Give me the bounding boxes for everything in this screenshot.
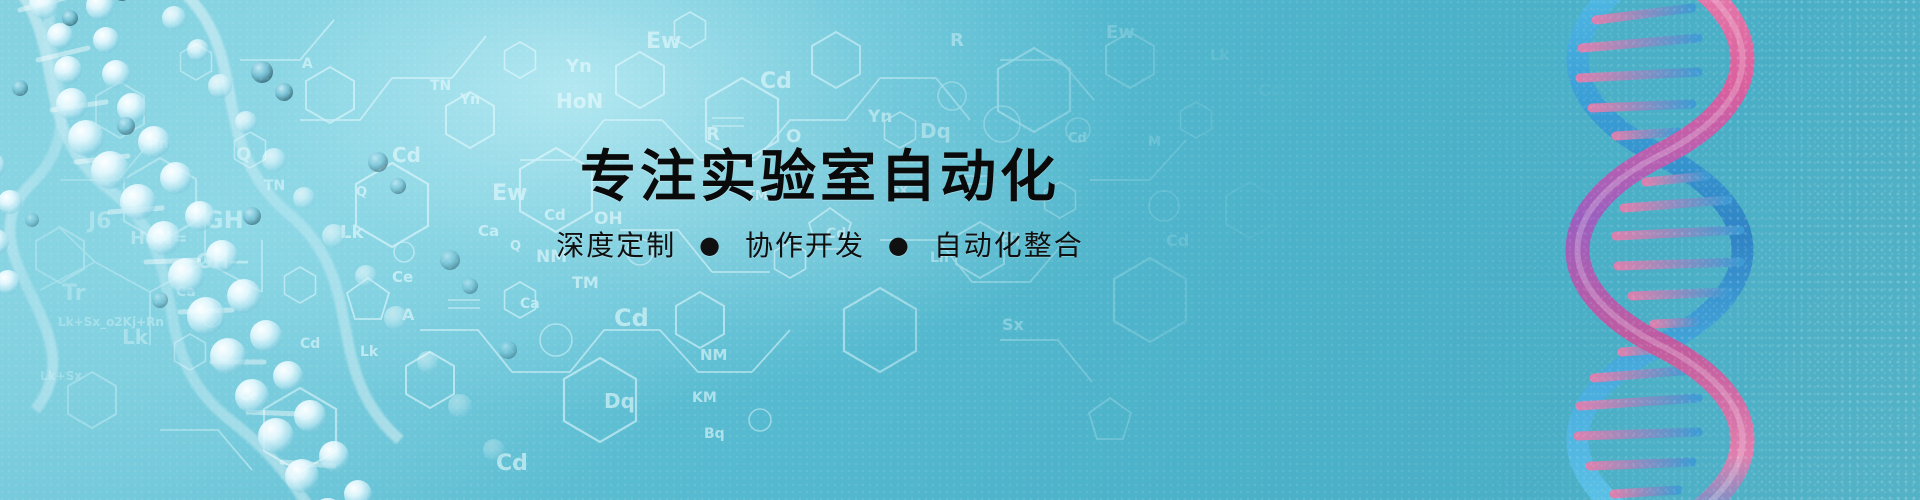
- svg-text:Dq: Dq: [920, 119, 951, 143]
- svg-text:Bq: Bq: [704, 426, 725, 442]
- svg-text:Ew: Ew: [1106, 22, 1135, 43]
- svg-text:Lk+Sx_o2Kj+Rn: Lk+Sx_o2Kj+Rn: [58, 315, 164, 330]
- svg-text:Lk: Lk: [1210, 46, 1231, 64]
- svg-text:R: R: [706, 124, 720, 145]
- banner-subtitle: 深度定制 ● 协作开发 ● 自动化整合: [0, 232, 1640, 260]
- svg-text:Lk+Sx: Lk+Sx: [40, 369, 82, 383]
- bullet-separator-icon-2: ●: [888, 233, 911, 257]
- banner-copy: 专注实验室自动化 深度定制 ● 协作开发 ● 自动化整合: [0, 150, 1640, 260]
- subtitle-item-1: 深度定制: [556, 229, 676, 262]
- svg-text:M: M: [1148, 135, 1161, 150]
- svg-text:Ce: Ce: [240, 389, 259, 404]
- svg-text:TM: TM: [572, 273, 599, 292]
- svg-text:Cd: Cd: [614, 304, 649, 332]
- svg-text:Cd: Cd: [760, 69, 792, 94]
- svg-text:Lk: Lk: [122, 325, 149, 349]
- svg-text:A: A: [302, 56, 313, 72]
- svg-text:R: R: [950, 30, 964, 51]
- svg-text:Ca: Ca: [520, 296, 540, 312]
- svg-text:Dq: Dq: [604, 389, 635, 413]
- svg-text:Cd: Cd: [496, 451, 528, 476]
- svg-text:Cd: Cd: [1068, 131, 1087, 146]
- svg-text:O: O: [786, 126, 801, 147]
- svg-text:Yn: Yn: [867, 107, 892, 127]
- svg-text:Cd: Cd: [1258, 81, 1283, 101]
- svg-text:Yn: Yn: [459, 92, 480, 108]
- svg-text:Sx: Sx: [1002, 315, 1025, 334]
- svg-text:Cd: Cd: [300, 336, 320, 352]
- svg-text:Tr: Tr: [62, 281, 86, 306]
- svg-text:Yn: Yn: [565, 56, 592, 77]
- svg-text:Ca: Ca: [176, 284, 196, 300]
- banner-headline: 专注实验室自动化: [0, 150, 1640, 206]
- svg-text:TN: TN: [430, 78, 451, 94]
- svg-text:NM: NM: [700, 346, 727, 364]
- subtitle-item-3: 自动化整合: [934, 229, 1084, 262]
- svg-text:A: A: [402, 305, 415, 324]
- svg-text:Lk: Lk: [360, 344, 379, 360]
- svg-text:Ew: Ew: [646, 29, 681, 54]
- bullet-separator-icon: ●: [699, 233, 722, 257]
- svg-text:KM: KM: [692, 390, 717, 406]
- svg-text:HoN: HoN: [556, 89, 603, 113]
- hero-banner: Ew HoN Ew Cd Yn OH R O R Yn Dq Ew Lk Cd …: [0, 0, 1920, 500]
- svg-text:Ce: Ce: [392, 268, 413, 286]
- subtitle-item-2: 协作开发: [745, 229, 865, 262]
